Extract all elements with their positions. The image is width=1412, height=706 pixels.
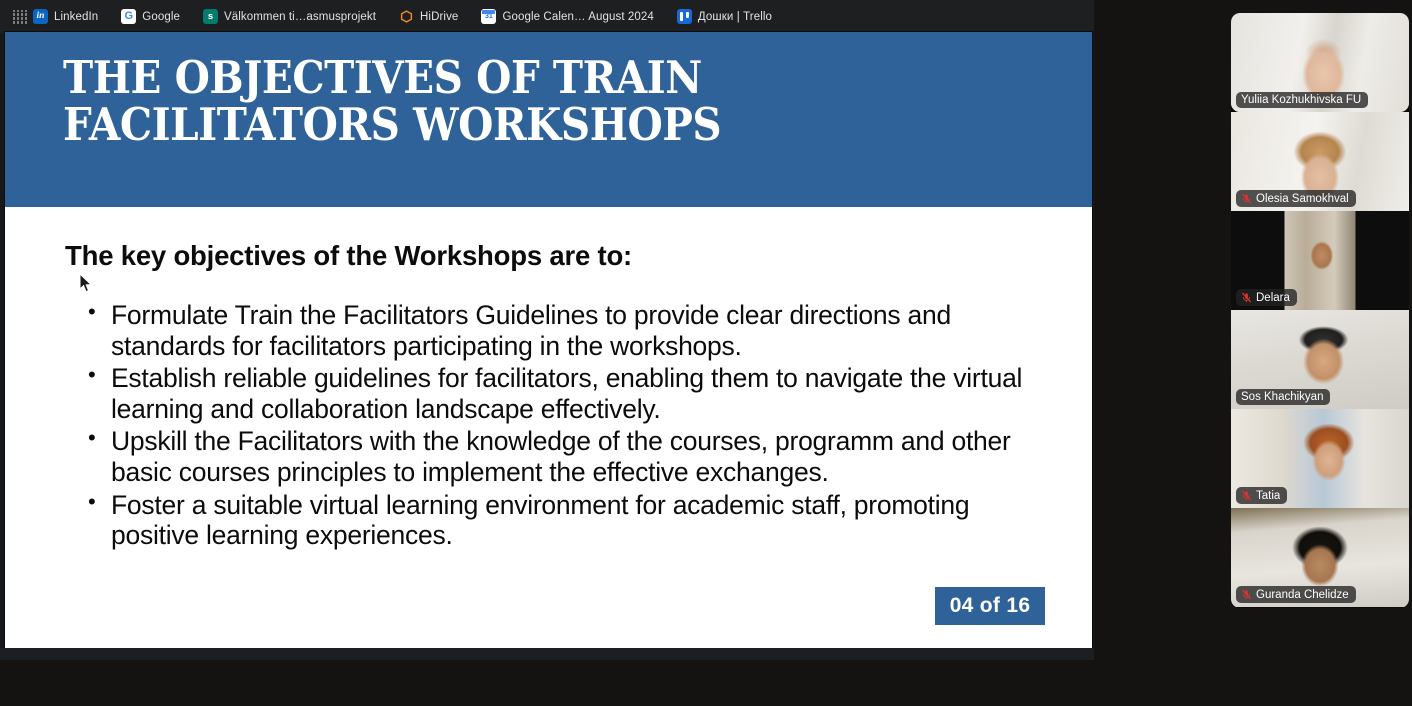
trello-icon	[677, 9, 692, 24]
bookmark-sharepoint[interactable]: s Välkommen ti…asmusprojekt	[197, 6, 382, 28]
sharepoint-icon: s	[203, 9, 218, 24]
presentation-slide[interactable]: The objectives of Train Facilitators Wor…	[5, 32, 1092, 648]
participant-name: Yuliia Kozhukhivska FU	[1241, 94, 1361, 106]
shared-browser-window: in LinkedIn G Google s Välkommen ti…asmu…	[0, 0, 1094, 660]
participant-name: Olesia Samokhval	[1256, 193, 1349, 205]
participant-name: Tatia	[1256, 490, 1280, 502]
mic-muted-icon	[1241, 588, 1252, 601]
slide-page-indicator: 04 of 16	[935, 587, 1045, 625]
participant-name-pill: Yuliia Kozhukhivska FU	[1236, 92, 1368, 108]
mic-muted-icon	[1241, 489, 1252, 502]
participant-name: Delara	[1256, 292, 1290, 304]
slide-header-band: The objectives of Train Facilitators Wor…	[5, 32, 1092, 207]
list-item: Establish reliable guidelines for facili…	[83, 363, 1043, 424]
hidrive-icon	[399, 9, 414, 24]
google-icon: G	[121, 9, 136, 24]
participant-tile[interactable]: Delara	[1231, 211, 1409, 310]
bookmark-hidrive[interactable]: HiDrive	[393, 6, 464, 28]
participant-tile[interactable]: Yuliia Kozhukhivska FU	[1231, 13, 1409, 112]
bookmarks-bar: in LinkedIn G Google s Välkommen ti…asmu…	[0, 0, 1094, 33]
mouse-cursor-icon	[79, 273, 93, 293]
bookmark-label: Google Calen… August 2024	[502, 11, 653, 23]
bookmark-label: LinkedIn	[54, 11, 98, 23]
participant-name: Sos Khachikyan	[1241, 391, 1323, 403]
apps-grid-icon[interactable]	[13, 10, 27, 24]
bookmark-trello[interactable]: Дошки | Trello	[671, 6, 778, 28]
bookmark-label: Google	[142, 11, 180, 23]
list-item: Foster a suitable virtual learning envir…	[83, 490, 1043, 551]
list-item: Formulate Train the Facilitators Guideli…	[83, 300, 1043, 361]
window-bottom-strip	[0, 648, 1094, 660]
participant-name-pill: Tatia	[1236, 487, 1287, 504]
participant-tile[interactable]: Olesia Samokhval	[1231, 112, 1409, 211]
mic-muted-icon	[1241, 291, 1252, 304]
slide-title: The objectives of Train Facilitators Wor…	[63, 54, 953, 149]
participant-name: Guranda Chelidze	[1256, 589, 1349, 601]
mic-muted-icon	[1241, 192, 1252, 205]
participants-filmstrip[interactable]: Yuliia Kozhukhivska FU Olesia Samokhval	[1231, 13, 1409, 608]
linkedin-icon: in	[33, 9, 48, 24]
participant-tile[interactable]: Guranda Chelidze	[1231, 508, 1409, 607]
participant-name-pill: Olesia Samokhval	[1236, 190, 1356, 207]
bookmark-label: HiDrive	[420, 11, 458, 23]
screen-root: in LinkedIn G Google s Välkommen ti…asmu…	[0, 0, 1412, 706]
participant-name-pill: Delara	[1236, 289, 1297, 306]
participant-tile[interactable]: Sos Khachikyan	[1231, 310, 1409, 409]
google-calendar-icon: 31	[481, 9, 496, 24]
objectives-list: Formulate Train the Facilitators Guideli…	[83, 300, 1043, 553]
bookmark-linkedin[interactable]: in LinkedIn	[27, 6, 104, 28]
bookmark-label: Дошки | Trello	[698, 11, 772, 23]
bookmark-label: Välkommen ti…asmusprojekt	[224, 11, 376, 23]
list-item: Upskill the Facilitators with the knowle…	[83, 426, 1043, 487]
participant-name-pill: Guranda Chelidze	[1236, 586, 1356, 603]
slide-subtitle: The key objectives of the Workshops are …	[65, 240, 632, 272]
bookmark-google[interactable]: G Google	[115, 6, 186, 28]
bookmark-google-calendar[interactable]: 31 Google Calen… August 2024	[475, 6, 659, 28]
participant-tile[interactable]: Tatia	[1231, 409, 1409, 508]
participant-name-pill: Sos Khachikyan	[1236, 389, 1330, 405]
